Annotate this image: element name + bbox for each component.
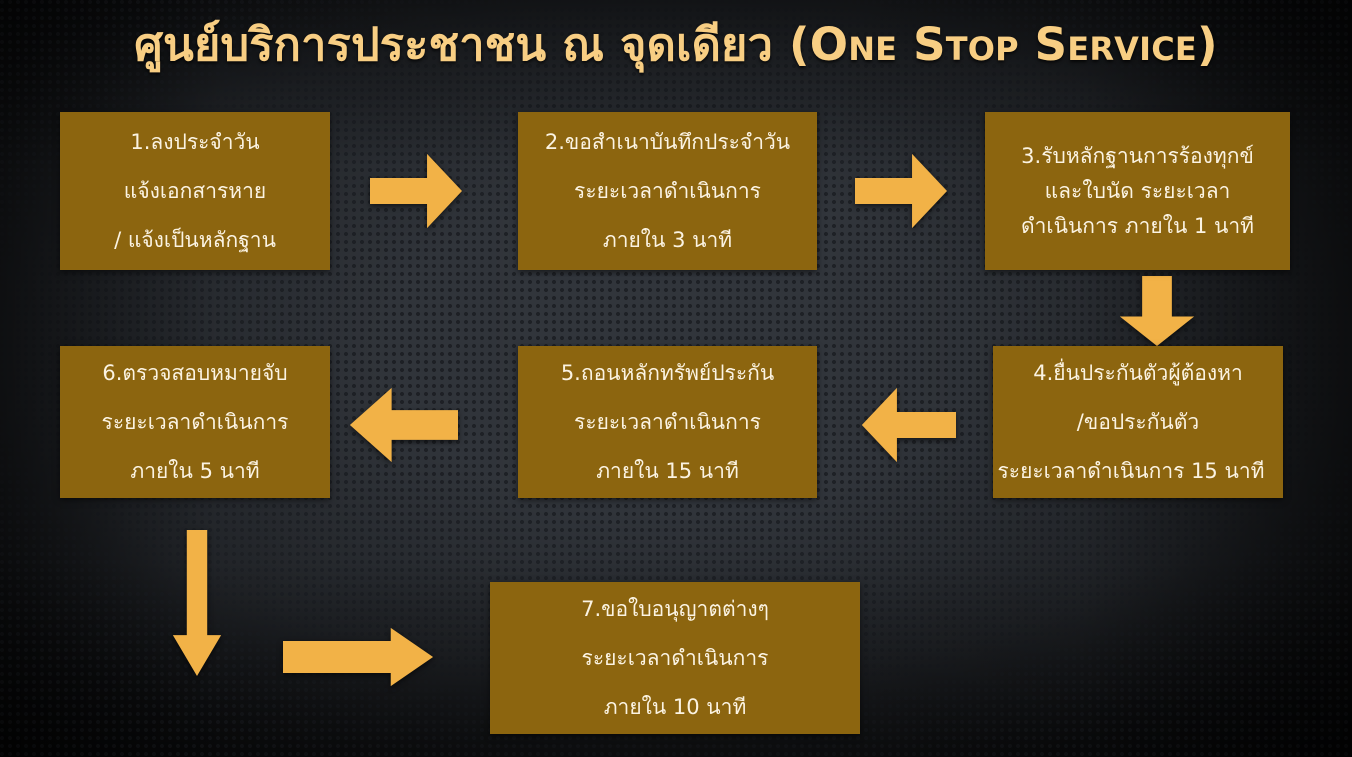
process-box-3-line-1: 3.รับหลักฐานการร้องทุกข์: [1021, 146, 1254, 167]
process-box-6-line-3: ภายใน 5 นาที: [130, 461, 259, 482]
process-box-1[interactable]: 1.ลงประจำวัน แจ้งเอกสารหาย / แจ้งเป็นหลั…: [60, 112, 330, 270]
arrow-left-icon-2: [348, 386, 458, 464]
process-box-6[interactable]: 6.ตรวจสอบหมายจับ ระยะเวลาดำเนินการ ภายใน…: [60, 346, 330, 498]
process-box-7-line-3: ภายใน 10 นาที: [604, 697, 747, 718]
arrow-down-icon-1: [1118, 276, 1196, 346]
arrow-right-icon-2: [855, 152, 947, 230]
process-box-6-line-1: 6.ตรวจสอบหมายจับ: [102, 363, 287, 384]
process-box-2-line-1: 2.ขอสำเนาบันทึกประจำวัน: [545, 132, 790, 153]
process-box-3-line-2: และใบนัด ระยะเวลา: [1045, 181, 1231, 202]
process-box-7-line-1: 7.ขอใบอนุญาตต่างๆ: [581, 599, 769, 620]
process-box-4[interactable]: 4.ยื่นประกันตัวผู้ต้องหา /ขอประกันตัว ระ…: [993, 346, 1283, 498]
arrow-down-icon-2: [171, 530, 223, 678]
page-title: ศูนย์บริการประชาชน ณ จุดเดียว (One Stop …: [0, 14, 1352, 76]
process-box-5[interactable]: 5.ถอนหลักทรัพย์ประกัน ระยะเวลาดำเนินการ …: [518, 346, 817, 498]
process-box-2-line-2: ระยะเวลาดำเนินการ: [574, 181, 761, 202]
process-box-5-line-1: 5.ถอนหลักทรัพย์ประกัน: [561, 363, 774, 384]
process-box-1-line-2: แจ้งเอกสารหาย: [124, 181, 266, 202]
process-box-5-line-3: ภายใน 15 นาที: [596, 461, 739, 482]
arrow-right-icon-3: [283, 626, 435, 688]
process-box-7-line-2: ระยะเวลาดำเนินการ: [582, 648, 769, 669]
page-title-thai: ศูนย์บริการประชาชน ณ จุดเดียว: [134, 18, 789, 71]
process-box-6-line-2: ระยะเวลาดำเนินการ: [102, 412, 289, 433]
process-box-3[interactable]: 3.รับหลักฐานการร้องทุกข์ และใบนัด ระยะเว…: [985, 112, 1290, 270]
arrow-right-icon-1: [370, 152, 462, 230]
page-title-latin: (One Stop Service): [789, 18, 1218, 71]
arrow-left-icon-1: [860, 386, 956, 464]
process-box-4-line-2: /ขอประกันตัว: [1077, 412, 1199, 433]
process-box-1-line-3: / แจ้งเป็นหลักฐาน: [114, 230, 276, 251]
process-box-4-line-1: 4.ยื่นประกันตัวผู้ต้องหา: [1033, 363, 1243, 384]
process-box-2[interactable]: 2.ขอสำเนาบันทึกประจำวัน ระยะเวลาดำเนินกา…: [518, 112, 817, 270]
slide-canvas: ศูนย์บริการประชาชน ณ จุดเดียว (One Stop …: [0, 0, 1352, 757]
process-box-1-line-1: 1.ลงประจำวัน: [130, 132, 259, 153]
process-box-4-line-3: ระยะเวลาดำเนินการ 15 นาที: [972, 461, 1290, 482]
process-box-2-line-3: ภายใน 3 นาที: [603, 230, 732, 251]
process-box-7[interactable]: 7.ขอใบอนุญาตต่างๆ ระยะเวลาดำเนินการ ภายใ…: [490, 582, 860, 734]
process-box-5-line-2: ระยะเวลาดำเนินการ: [574, 412, 761, 433]
process-box-3-line-3: ดำเนินการ ภายใน 1 นาที: [1021, 216, 1254, 237]
